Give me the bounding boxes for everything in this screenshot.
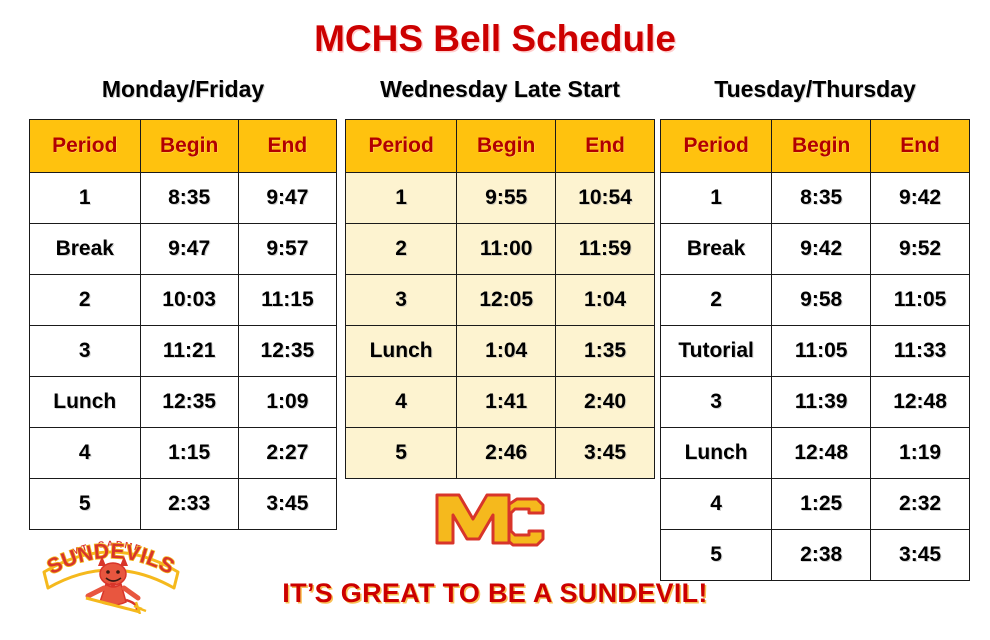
cell-end-time: 10:54 <box>556 173 655 224</box>
column-header-period: Period <box>661 120 772 173</box>
table-row: 211:0011:59 <box>346 224 655 275</box>
page-title: MCHS Bell Schedule <box>0 18 990 60</box>
cell-end-time: 1:19 <box>871 428 970 479</box>
cell-period: 4 <box>346 377 457 428</box>
cell-period: 4 <box>30 428 141 479</box>
cell-begin-time: 9:58 <box>772 275 871 326</box>
column-header-begin: Begin <box>772 120 871 173</box>
column-header-end: End <box>238 120 336 173</box>
cell-period: Tutorial <box>661 326 772 377</box>
cell-end-time: 11:05 <box>871 275 970 326</box>
cell-begin-time: 2:38 <box>772 530 871 581</box>
cell-period: 5 <box>661 530 772 581</box>
table-header-row: PeriodBeginEnd <box>346 120 655 173</box>
cell-end-time: 1:09 <box>238 377 336 428</box>
cell-begin-time: 9:55 <box>457 173 556 224</box>
cell-period: 3 <box>661 377 772 428</box>
cell-end-time: 3:45 <box>238 479 336 530</box>
cell-begin-time: 12:05 <box>457 275 556 326</box>
slogan-text: IT’S GREAT TO BE A SUNDEVIL! <box>0 578 990 609</box>
cell-begin-time: 2:46 <box>457 428 556 479</box>
cell-period: Break <box>30 224 141 275</box>
cell-end-time: 2:32 <box>871 479 970 530</box>
table-row: 19:5510:54 <box>346 173 655 224</box>
cell-end-time: 3:45 <box>556 428 655 479</box>
column-header-begin: Begin <box>140 120 238 173</box>
cell-end-time: 11:15 <box>238 275 336 326</box>
cell-begin-time: 8:35 <box>140 173 238 224</box>
cell-period: 2 <box>346 224 457 275</box>
cell-end-time: 2:40 <box>556 377 655 428</box>
cell-end-time: 9:47 <box>238 173 336 224</box>
cell-period: 3 <box>346 275 457 326</box>
cell-period: 5 <box>346 428 457 479</box>
cell-end-time: 9:42 <box>871 173 970 224</box>
cell-period: 1 <box>661 173 772 224</box>
table-row: 311:3912:48 <box>661 377 970 428</box>
cell-end-time: 11:33 <box>871 326 970 377</box>
schedule-heading-tuesday-thursday: Tuesday/Thursday <box>660 76 970 103</box>
column-header-end: End <box>556 120 655 173</box>
table-row: Lunch12:351:09 <box>30 377 337 428</box>
cell-begin-time: 10:03 <box>140 275 238 326</box>
cell-period: Lunch <box>30 377 141 428</box>
table-header-row: PeriodBeginEnd <box>30 120 337 173</box>
cell-end-time: 11:59 <box>556 224 655 275</box>
cell-begin-time: 8:35 <box>772 173 871 224</box>
column-header-period: Period <box>346 120 457 173</box>
table-row: Break9:479:57 <box>30 224 337 275</box>
table-row: 29:5811:05 <box>661 275 970 326</box>
cell-begin-time: 9:42 <box>772 224 871 275</box>
table-row: 311:2112:35 <box>30 326 337 377</box>
cell-end-time: 2:27 <box>238 428 336 479</box>
cell-period: Lunch <box>346 326 457 377</box>
cell-begin-time: 12:35 <box>140 377 238 428</box>
column-header-end: End <box>871 120 970 173</box>
schedule-table-monday-friday: PeriodBeginEnd18:359:47Break9:479:57210:… <box>29 119 337 530</box>
table-row: 18:359:47 <box>30 173 337 224</box>
table-row: 52:463:45 <box>346 428 655 479</box>
cell-end-time: 9:52 <box>871 224 970 275</box>
cell-period: Lunch <box>661 428 772 479</box>
schedule-table-wednesday-late-start: PeriodBeginEnd19:5510:54211:0011:59312:0… <box>345 119 655 479</box>
table-row: Lunch1:041:35 <box>346 326 655 377</box>
cell-end-time: 12:35 <box>238 326 336 377</box>
cell-begin-time: 11:39 <box>772 377 871 428</box>
cell-period: 3 <box>30 326 141 377</box>
schedule-heading-wednesday-late-start: Wednesday Late Start <box>345 76 655 103</box>
cell-begin-time: 11:21 <box>140 326 238 377</box>
table-header-row: PeriodBeginEnd <box>661 120 970 173</box>
column-header-period: Period <box>30 120 141 173</box>
cell-end-time: 1:35 <box>556 326 655 377</box>
cell-begin-time: 1:04 <box>457 326 556 377</box>
cell-begin-time: 11:05 <box>772 326 871 377</box>
cell-begin-time: 1:15 <box>140 428 238 479</box>
cell-period: 1 <box>30 173 141 224</box>
cell-begin-time: 12:48 <box>772 428 871 479</box>
cell-begin-time: 9:47 <box>140 224 238 275</box>
cell-end-time: 3:45 <box>871 530 970 581</box>
table-row: 41:252:32 <box>661 479 970 530</box>
cell-end-time: 1:04 <box>556 275 655 326</box>
cell-period: 4 <box>661 479 772 530</box>
mc-monogram-logo <box>425 483 553 559</box>
cell-period: 1 <box>346 173 457 224</box>
table-row: 41:152:27 <box>30 428 337 479</box>
table-row: 312:051:04 <box>346 275 655 326</box>
schedule-heading-monday-friday: Monday/Friday <box>29 76 337 103</box>
mc-letter-m <box>437 495 509 543</box>
cell-begin-time: 1:41 <box>457 377 556 428</box>
cell-period: 2 <box>30 275 141 326</box>
cell-period: Break <box>661 224 772 275</box>
cell-begin-time: 1:25 <box>772 479 871 530</box>
table-row: Lunch12:481:19 <box>661 428 970 479</box>
cell-end-time: 12:48 <box>871 377 970 428</box>
table-row: Tutorial11:0511:33 <box>661 326 970 377</box>
cell-end-time: 9:57 <box>238 224 336 275</box>
schedule-table-tuesday-thursday: PeriodBeginEnd18:359:42Break9:429:5229:5… <box>660 119 970 581</box>
column-header-begin: Begin <box>457 120 556 173</box>
table-row: 210:0311:15 <box>30 275 337 326</box>
table-row: 18:359:42 <box>661 173 970 224</box>
table-row: 41:412:40 <box>346 377 655 428</box>
table-row: 52:383:45 <box>661 530 970 581</box>
cell-begin-time: 11:00 <box>457 224 556 275</box>
table-row: Break9:429:52 <box>661 224 970 275</box>
cell-period: 2 <box>661 275 772 326</box>
